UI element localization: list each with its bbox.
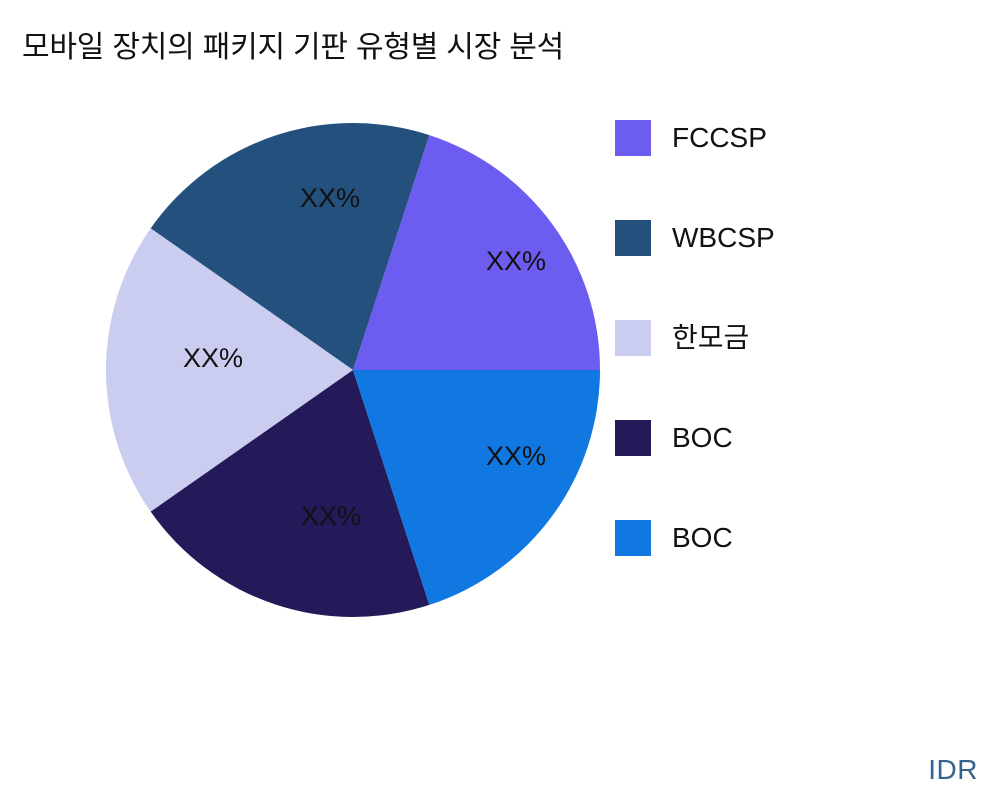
pie-slice-label: XX% — [486, 441, 546, 471]
legend-item-label: 한모금 — [672, 318, 749, 358]
legend-item-label: BOC — [672, 518, 733, 558]
watermark: IDR — [928, 754, 978, 786]
legend: FCCSPWBCSP한모금BOCBOC — [615, 120, 985, 620]
pie-slice-label: XX% — [300, 183, 360, 213]
legend-item[interactable]: BOC — [615, 520, 985, 620]
pie-slice-label: XX% — [301, 501, 361, 531]
pie-chart-svg: XX%XX%XX%XX%XX% — [0, 0, 640, 700]
legend-item[interactable]: 한모금 — [615, 320, 985, 420]
legend-item-label: BOC — [672, 418, 733, 458]
pie-slice-label: XX% — [486, 246, 546, 276]
legend-item-label: WBCSP — [672, 218, 775, 258]
legend-item[interactable]: FCCSP — [615, 120, 985, 220]
legend-swatch-icon — [615, 220, 651, 256]
legend-swatch-icon — [615, 320, 651, 356]
pie-chart: XX%XX%XX%XX%XX% — [0, 0, 640, 700]
legend-swatch-icon — [615, 520, 651, 556]
legend-item[interactable]: WBCSP — [615, 220, 985, 320]
legend-item[interactable]: BOC — [615, 420, 985, 520]
legend-item-label: FCCSP — [672, 118, 767, 158]
legend-swatch-icon — [615, 120, 651, 156]
pie-slice-label: XX% — [183, 343, 243, 373]
legend-swatch-icon — [615, 420, 651, 456]
